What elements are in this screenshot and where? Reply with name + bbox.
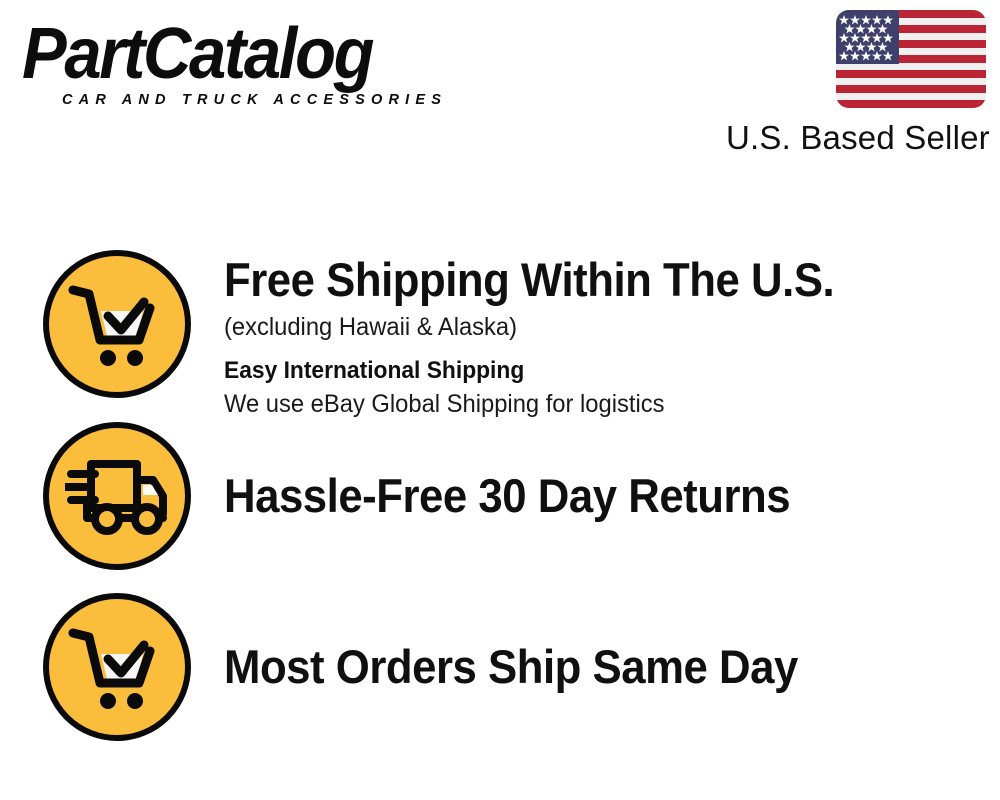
feature-title: Free Shipping Within The U.S. — [224, 252, 946, 308]
shopping-cart-check-icon — [43, 250, 191, 398]
delivery-truck-icon — [43, 422, 191, 570]
feature-title: Most Orders Ship Same Day — [224, 639, 798, 695]
us-based-seller-badge: U.S. Based Seller — [726, 10, 986, 157]
feature-text-block: Free Shipping Within The U.S. (excluding… — [224, 250, 1000, 421]
feature-row: Hassle-Free 30 Day Returns — [0, 422, 1000, 594]
banner-header: PartCatalog CAR AND TRUCK ACCESSORIES — [0, 0, 1000, 180]
feature-subtitle: (excluding Hawaii & Alaska) — [224, 311, 961, 344]
shipping-info-banner: PartCatalog CAR AND TRUCK ACCESSORIES — [0, 0, 1000, 800]
feature-text-block: Most Orders Ship Same Day — [224, 593, 1000, 741]
shopping-cart-check-icon — [43, 593, 191, 741]
feature-note: We use eBay Global Shipping for logistic… — [224, 388, 961, 421]
feature-row: Free Shipping Within The U.S. (excluding… — [0, 250, 1000, 430]
us-flag-icon — [836, 10, 986, 108]
brand-wordmark: PartCatalog — [22, 18, 459, 90]
us-based-seller-label: U.S. Based Seller — [726, 119, 986, 157]
feature-text-block: Hassle-Free 30 Day Returns — [224, 422, 1000, 570]
feature-list: Free Shipping Within The U.S. (excluding… — [0, 180, 1000, 800]
brand-tagline: CAR AND TRUCK ACCESSORIES — [62, 92, 492, 108]
feature-note-strong: Easy International Shipping — [224, 355, 961, 387]
feature-row: Most Orders Ship Same Day — [0, 593, 1000, 773]
flag-canton — [836, 10, 899, 64]
feature-title: Hassle-Free 30 Day Returns — [224, 468, 790, 524]
brand-logo: PartCatalog CAR AND TRUCK ACCESSORIES — [22, 18, 492, 118]
